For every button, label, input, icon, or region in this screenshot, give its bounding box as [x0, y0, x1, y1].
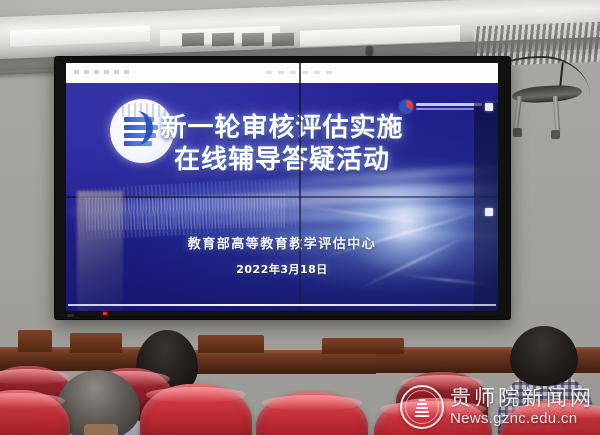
- video-wall-display[interactable]: 新一轮审核评估实施 在线辅导答疑活动 教育部高等教育教学评估中心 2022年3月…: [55, 57, 510, 319]
- video-wall-seam-vertical: [299, 63, 301, 311]
- attendee-neck: [84, 424, 118, 435]
- power-led-indicator: [103, 312, 107, 315]
- slide-title-line-2: 在线辅导答疑活动: [66, 145, 498, 177]
- org-logo-wordmark: [416, 103, 482, 110]
- video-wall-seam-horizontal: [66, 196, 498, 198]
- ceiling-vent: [242, 33, 264, 47]
- display-panel-right: [474, 103, 498, 311]
- bracket-foot: [513, 128, 522, 137]
- slide-glow: [330, 175, 480, 270]
- seat: [0, 390, 70, 435]
- chair-back-wood: [198, 335, 264, 353]
- org-logo-mark-icon: [400, 100, 413, 113]
- screen-glare: [77, 191, 123, 311]
- slide-date: 2022年3月18日: [66, 261, 498, 277]
- screen-button-icon-bottom[interactable]: [485, 208, 493, 216]
- chair-back-wood: [18, 330, 52, 352]
- bracket-foot: [551, 130, 560, 139]
- seat: [140, 384, 252, 435]
- toolbar-icons-left: [74, 70, 134, 74]
- display-screen[interactable]: 新一轮审核评估实施 在线辅导答疑活动 教育部高等教育教学评估中心 2022年3月…: [66, 63, 498, 311]
- bracket-arm: [513, 96, 522, 130]
- slide-title-line-1: 新一轮审核评估实施: [66, 113, 498, 145]
- display-bottom-lightbar: [68, 304, 496, 306]
- ministry-org-logo: [400, 99, 482, 113]
- chair-back-wood: [322, 338, 404, 354]
- photo-scene: 新一轮审核评估实施 在线辅导答疑活动 教育部高等教育教学评估中心 2022年3月…: [0, 0, 600, 435]
- slide-title: 新一轮审核评估实施 在线辅导答疑活动: [66, 113, 498, 176]
- screen-button-icon-top[interactable]: [485, 103, 493, 111]
- ceiling-vent: [212, 33, 234, 47]
- toolbar-icons-center: [266, 71, 336, 74]
- seat: [256, 392, 368, 435]
- ceiling-vent: [272, 33, 294, 47]
- ceiling-sensor-icon: [366, 46, 373, 56]
- slide-organization: 教育部高等教育教学评估中心: [66, 233, 498, 252]
- attendee-head: [510, 326, 578, 386]
- ceiling-vent: [182, 33, 204, 47]
- bracket-arm: [553, 96, 560, 132]
- application-toolbar[interactable]: [66, 63, 498, 83]
- bench-rail: [186, 352, 376, 374]
- ir-sensor-icon: [67, 314, 74, 317]
- seat: [374, 398, 492, 435]
- chair-back-wood: [70, 333, 122, 353]
